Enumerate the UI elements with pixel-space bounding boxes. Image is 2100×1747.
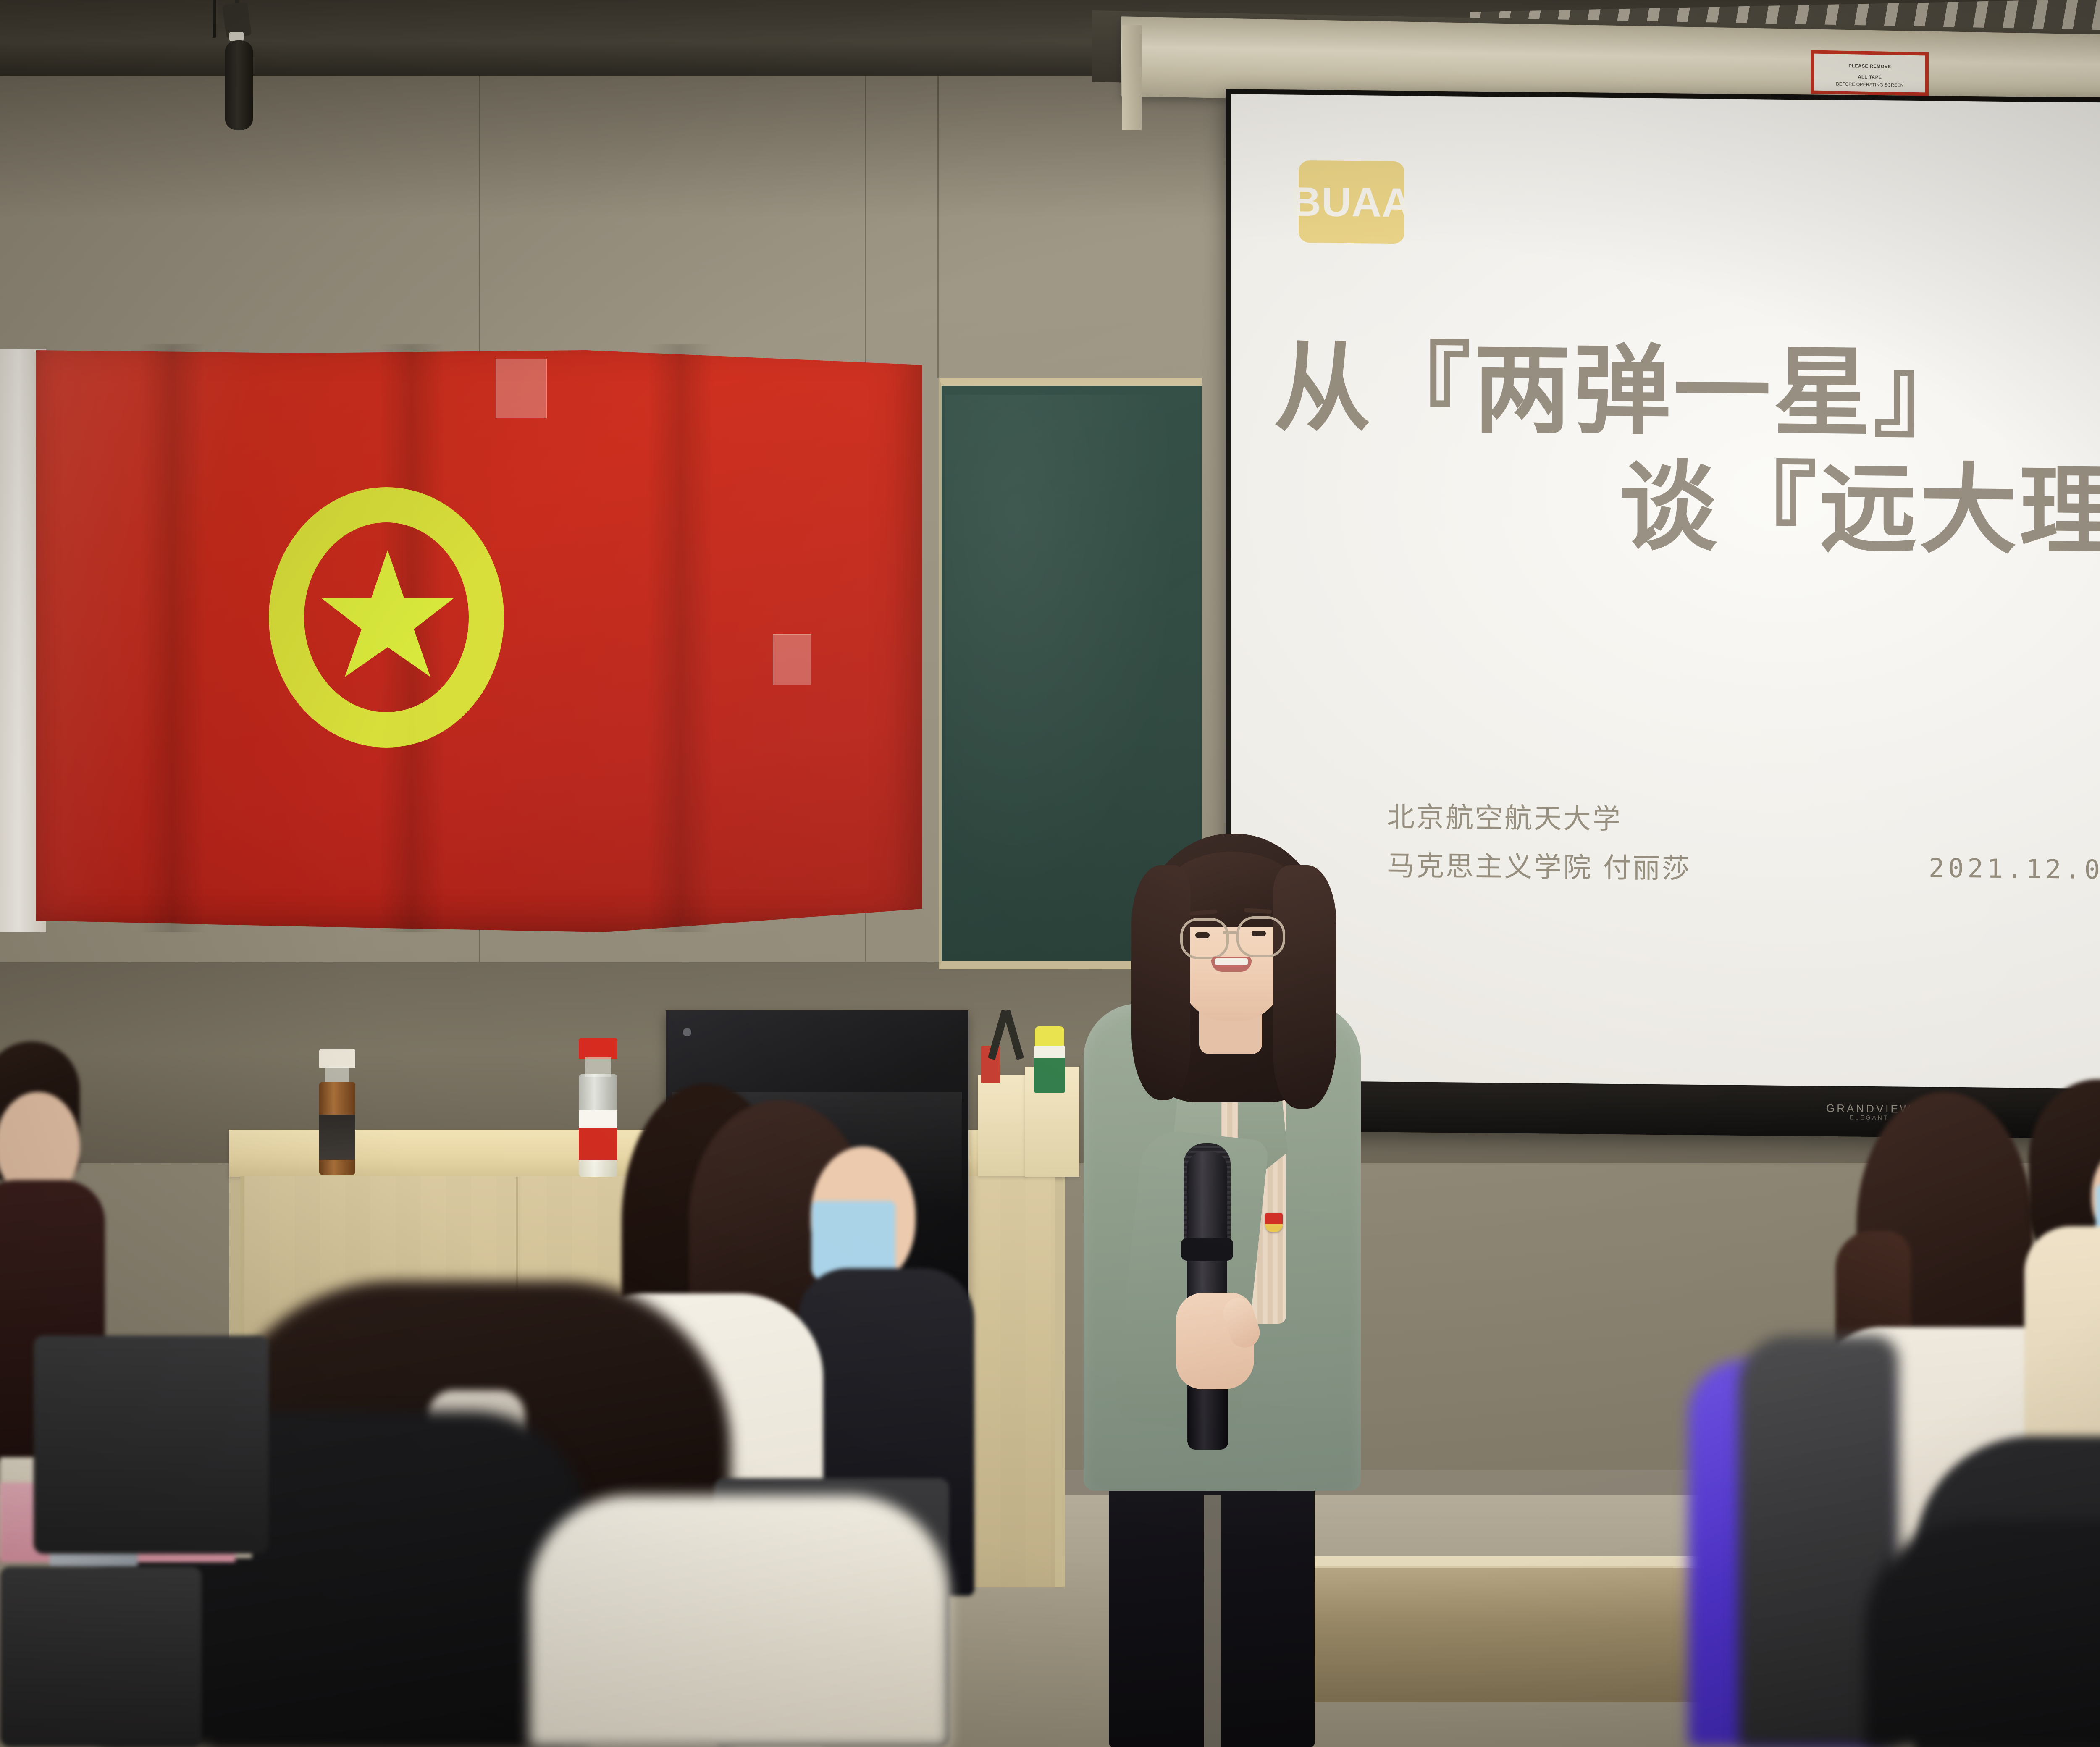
presentation-slide: BUAA 从『两弹一星』 谈『远大理想』 北京航空航天大学 马克思主义学院 付丽… — [1231, 94, 2100, 1093]
eyeglasses-lens-left — [1180, 918, 1229, 959]
slide-title-line-2: 谈『远大理想』 — [1273, 446, 2100, 572]
screen-bracket — [1122, 25, 1142, 130]
flag-fold — [647, 344, 714, 932]
slide-title: 从『两弹一星』 谈『远大理想』 — [1273, 330, 2100, 572]
projection-vignette — [1231, 94, 2100, 1093]
hanging-microphone-icon — [225, 40, 253, 130]
slide-date: 2021.12.01 — [1929, 853, 2100, 885]
microphone-tail — [1188, 1386, 1228, 1450]
audience-person-left-7 — [529, 1495, 949, 1747]
speaker-eye-left — [1195, 932, 1210, 938]
buaa-logo-text: BUAA — [1291, 178, 1412, 226]
warning-line-2: ALL TAPE — [1858, 74, 1882, 80]
bottle-cap — [579, 1038, 617, 1059]
bottle-tea — [319, 1049, 355, 1175]
speaker-leg-gap — [1204, 1495, 1221, 1747]
desk-organizer-left — [978, 1075, 1026, 1176]
speaker-teeth — [1215, 958, 1248, 965]
warning-line-1: PLEASE REMOVE — [1848, 63, 1891, 69]
slide-subtitle: 北京航空航天大学 马克思主义学院 付丽莎 — [1387, 793, 1691, 893]
chalkboard-sheen — [945, 395, 1180, 899]
speaker-hair-left — [1131, 865, 1190, 1100]
flag-tape — [773, 634, 811, 685]
flag-emblem — [269, 487, 504, 748]
party-emblem-pin-icon — [1265, 1213, 1283, 1232]
chair-left-3 — [0, 1566, 202, 1747]
slide-title-line-1: 从『两弹一星』 — [1273, 331, 1973, 451]
buaa-logo-badge: BUAA — [1299, 160, 1404, 244]
flag-fold — [139, 344, 206, 932]
slide-subtitle-line-1: 北京航空航天大学 — [1387, 793, 1691, 844]
warning-line-3: BEFORE OPERATING SCREEN — [1836, 82, 1903, 88]
screen-warning-label: PLEASE REMOVE ALL TAPE BEFORE OPERATING … — [1811, 50, 1929, 96]
glue-stick-body — [1034, 1046, 1065, 1093]
lecture-hall-scene: PLEASE REMOVE ALL TAPE BEFORE OPERATING … — [0, 0, 2100, 1747]
speaker-hair-right — [1273, 865, 1336, 1109]
microphone-grip-ring — [1181, 1238, 1233, 1261]
speaker-eye-right — [1252, 931, 1266, 936]
slide-subtitle-line-2: 马克思主义学院 付丽莎 — [1387, 841, 1691, 892]
monitor-power-led-icon — [683, 1028, 691, 1036]
bottle-cap — [319, 1049, 355, 1068]
youth-league-flag — [0, 344, 928, 941]
torso-fur-coat — [2024, 1226, 2100, 1461]
ceiling-cable — [213, 0, 216, 38]
eyeglasses-lens-right — [1236, 916, 1285, 957]
eyeglasses-bridge — [1223, 931, 1237, 934]
flag-tape — [496, 359, 547, 418]
bottle-label — [319, 1115, 355, 1160]
glue-stick-cap — [1035, 1026, 1064, 1048]
audience-person-right-2 — [2012, 1079, 2100, 1457]
chair-back-right — [1865, 1520, 2100, 1747]
mount-collar — [229, 32, 244, 41]
chair-left-1 — [34, 1335, 269, 1554]
